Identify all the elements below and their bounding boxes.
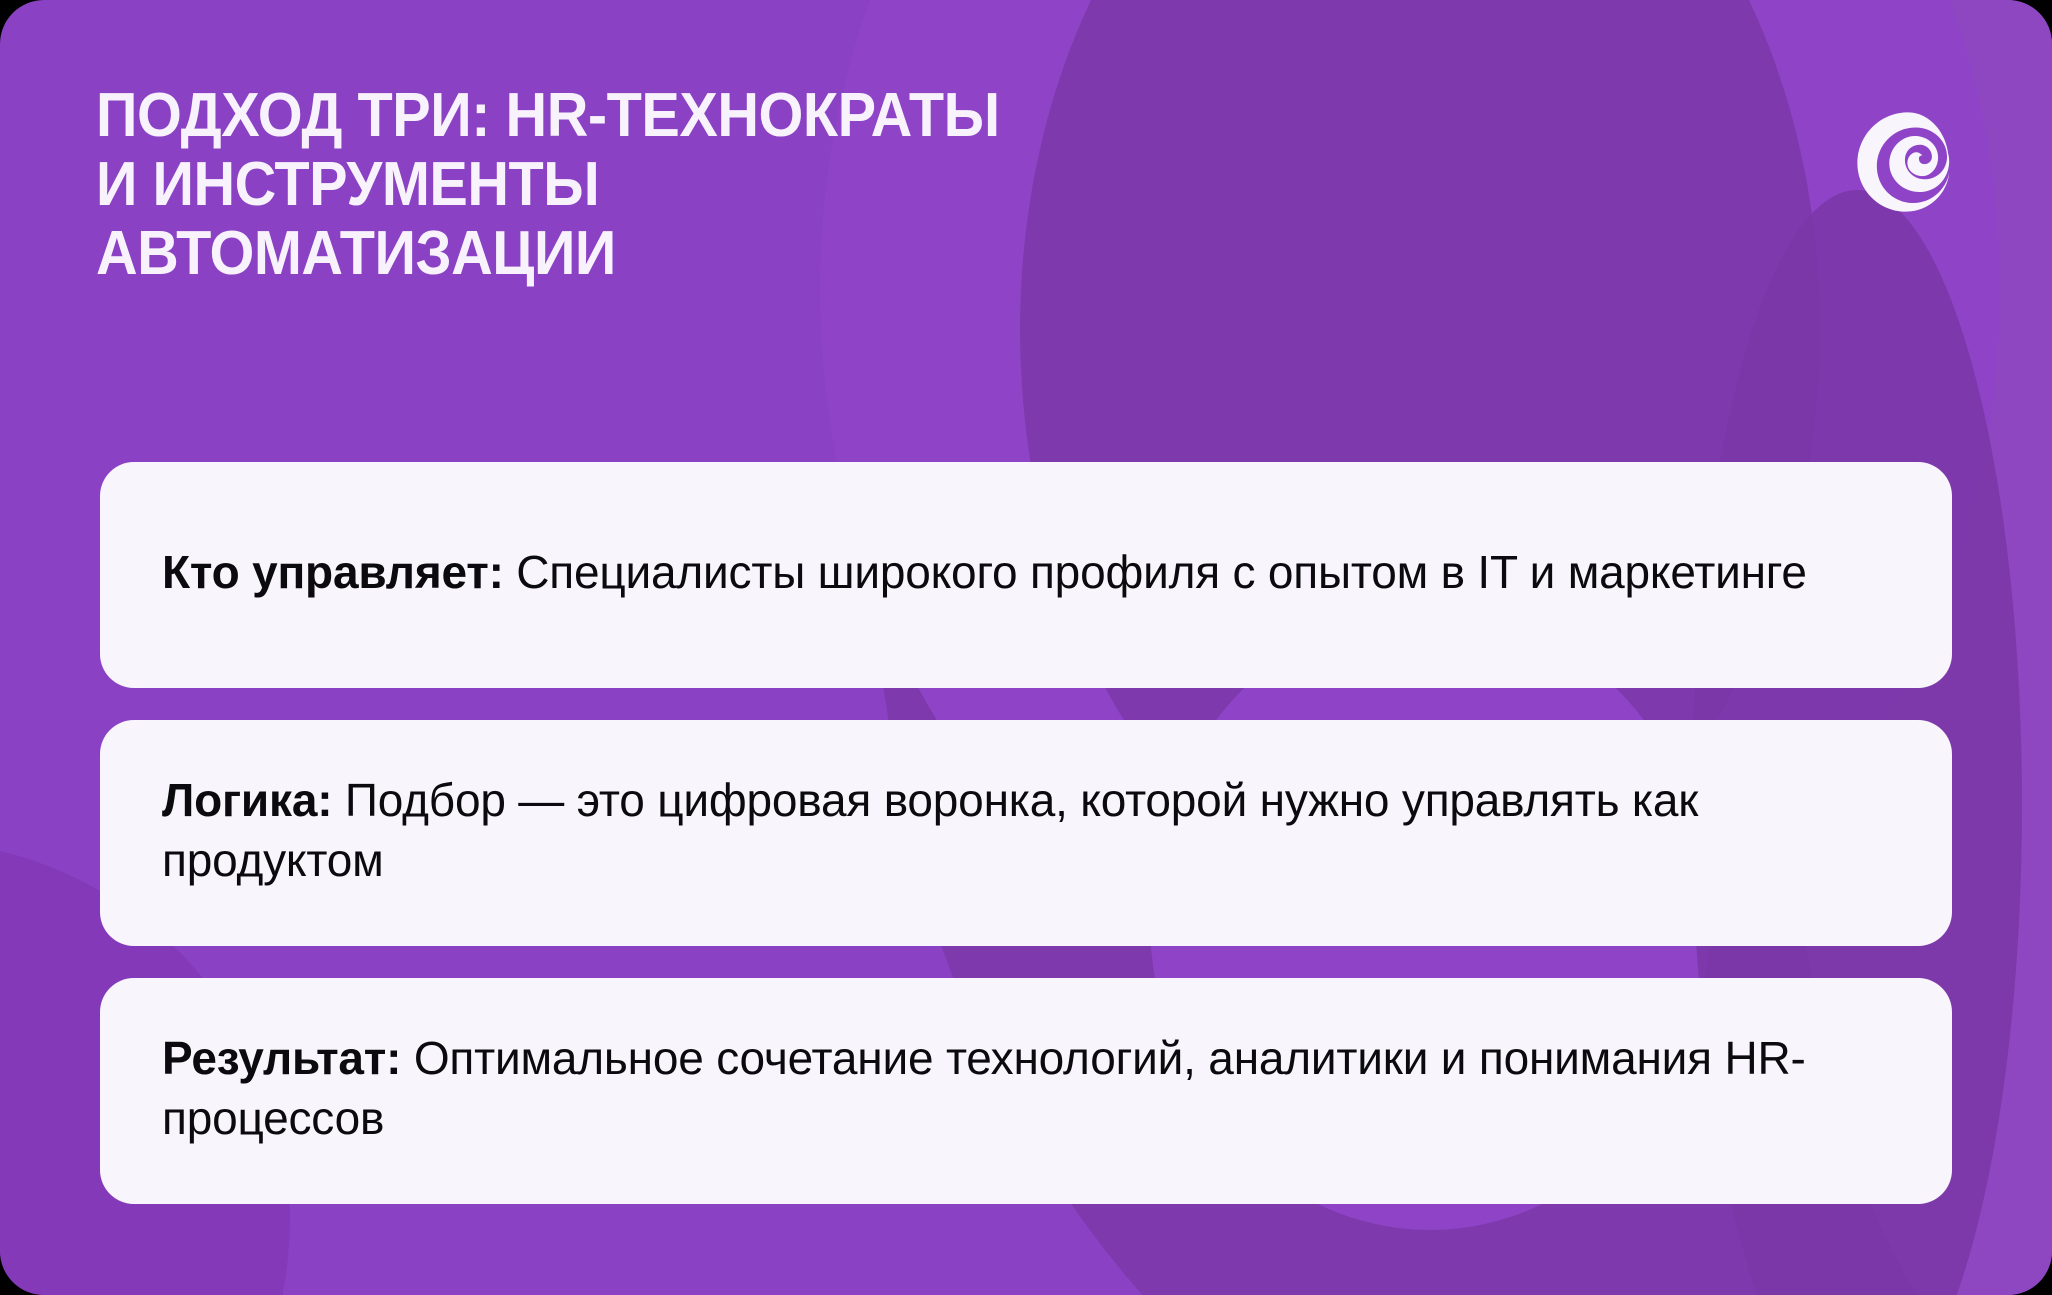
card-lead-label: Кто управляет: bbox=[162, 546, 504, 598]
page-title: ПОДХОД ТРИ: HR-ТЕХНОКРАТЫ И ИНСТРУМЕНТЫ … bbox=[96, 82, 1701, 288]
card-lead-label: Логика: bbox=[162, 774, 332, 826]
card-text: Кто управляет: Специалисты широкого проф… bbox=[162, 543, 1807, 603]
card-body-text: Оптимальное сочетание технологий, аналит… bbox=[162, 1032, 1806, 1144]
list-item: Результат: Оптимальное сочетание техноло… bbox=[100, 978, 1952, 1204]
list-item: Кто управляет: Специалисты широкого проф… bbox=[100, 462, 1952, 688]
card-lead-label: Результат: bbox=[162, 1032, 401, 1084]
card-body-text: Подбор — это цифровая воронка, которой н… bbox=[162, 774, 1698, 886]
card-text: Результат: Оптимальное сочетание техноло… bbox=[162, 1029, 1890, 1149]
card-text: Логика: Подбор — это цифровая воронка, к… bbox=[162, 771, 1890, 891]
spiral-swirl-icon bbox=[1852, 108, 1960, 216]
slide-canvas: ПОДХОД ТРИ: HR-ТЕХНОКРАТЫ И ИНСТРУМЕНТЫ … bbox=[0, 0, 2052, 1295]
cards-list: Кто управляет: Специалисты широкого проф… bbox=[100, 462, 1952, 1204]
list-item: Логика: Подбор — это цифровая воронка, к… bbox=[100, 720, 1952, 946]
slide-header: ПОДХОД ТРИ: HR-ТЕХНОКРАТЫ И ИНСТРУМЕНТЫ … bbox=[96, 82, 1822, 288]
card-body-text: Специалисты широкого профиля с опытом в … bbox=[504, 546, 1807, 598]
brand-logo bbox=[1852, 108, 1960, 216]
